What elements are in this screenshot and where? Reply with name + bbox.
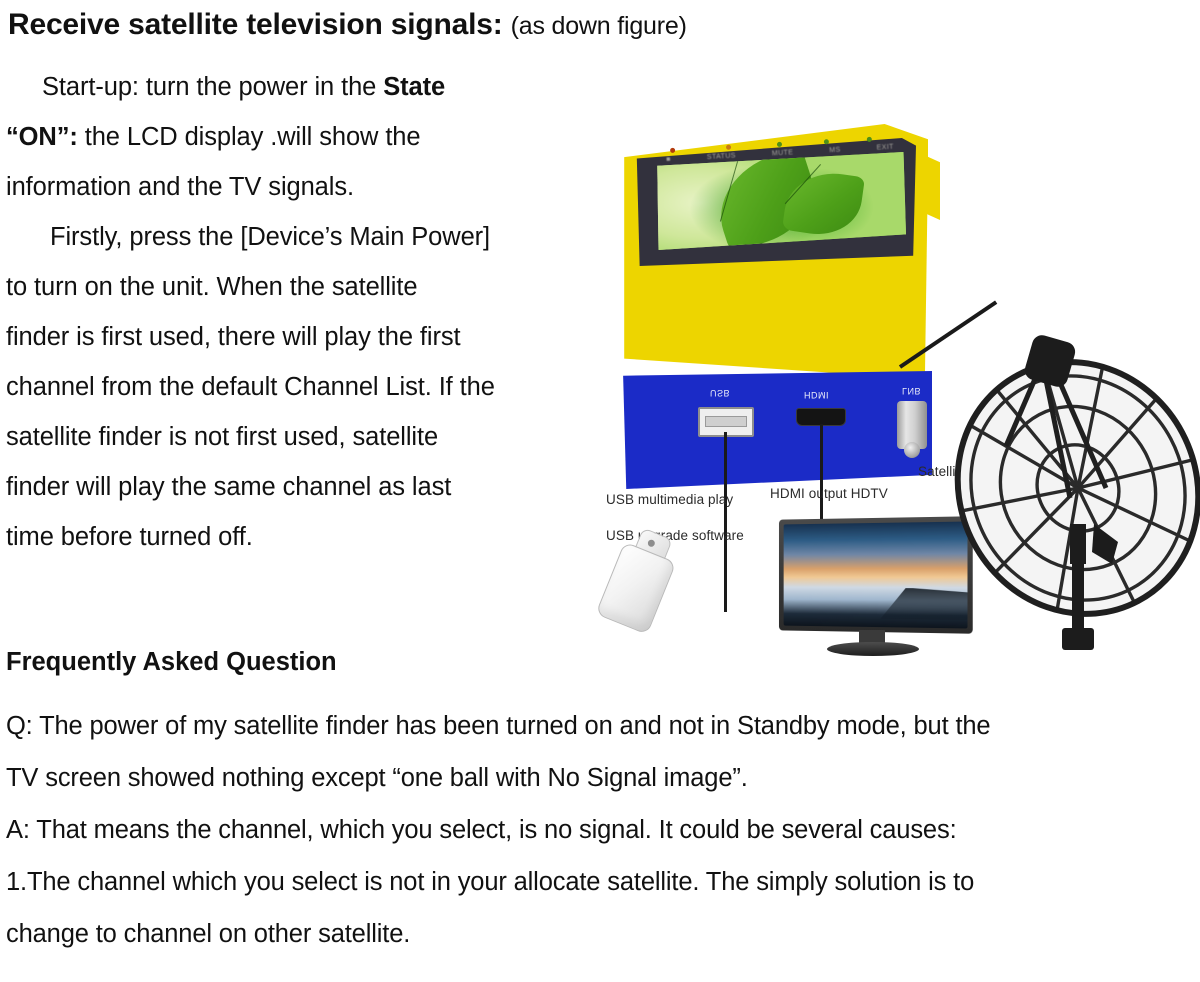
text-segment-bold: State [383, 73, 445, 101]
device-lower-panel [620, 371, 932, 489]
text-segment-bold: “ON”: [6, 123, 78, 151]
text-line: finder will play the same channel as las… [6, 462, 592, 512]
text-line: time before turned off. [6, 512, 592, 562]
usb-port-label: USB [710, 388, 730, 398]
bezel-label: MUTE [772, 149, 794, 157]
tv-stand-base [827, 642, 919, 656]
text-segment: Start-up: turn the power in the [42, 73, 383, 101]
faq-line-answer: A: That means the channel, which you sel… [6, 804, 1196, 856]
bezel-label: MS [829, 146, 841, 154]
satellite-dish [942, 328, 1200, 658]
tv-screen-image [784, 522, 968, 629]
text-segment: the LCD display .will show the [78, 123, 421, 151]
paragraph-startup: Start-up: turn the power in the State “O… [6, 62, 592, 212]
bezel-label: STATUS [707, 152, 736, 161]
text-line: channel from the default Channel List. I… [6, 362, 592, 412]
device-lcd-screen [656, 152, 906, 250]
text-line: to turn on the unit. When the satellite [6, 262, 592, 312]
faq-section-title: Frequently Asked Question [6, 648, 337, 677]
hdmi-output-caption: HDMI output HDTV [770, 486, 888, 501]
faq-line-question-2: TV screen showed nothing except “one bal… [6, 752, 1196, 804]
faq-line-cause-1-cont: change to channel on other satellite. [6, 908, 1196, 960]
text-line: Start-up: turn the power in the State [6, 62, 592, 112]
page-title-note: (as down figure) [511, 12, 687, 40]
text-line: finder is first used, there will play th… [6, 312, 592, 362]
usb-leader-line [724, 432, 727, 612]
bezel-label: ■ [666, 156, 671, 163]
lnb-port [897, 401, 927, 449]
faq-line-question-1: Q: The power of my satellite finder has … [6, 700, 1196, 752]
text-line: Firstly, press the [Device’s Main Power] [6, 212, 592, 262]
usb-multimedia-caption: USB multimedia play [606, 492, 733, 507]
body-text-column: Start-up: turn the power in the State “O… [6, 62, 592, 562]
dish-mount-base [1062, 628, 1094, 650]
text-line: information and the TV signals. [6, 162, 592, 212]
document-page: Receive satellite television signals: (a… [0, 0, 1200, 982]
paragraph-firstly: Firstly, press the [Device’s Main Power]… [6, 212, 592, 562]
satellite-finder-device: ■ STATUS MUTE MS EXIT USB HDMI LNB [618, 124, 958, 424]
page-title: Receive satellite television signals: (a… [8, 8, 928, 42]
text-line: satellite finder is not first used, sate… [6, 412, 592, 462]
faq-body: Q: The power of my satellite finder has … [6, 700, 1196, 960]
dish-mast [1072, 556, 1084, 640]
text-line: “ON”: the LCD display .will show the [6, 112, 592, 162]
bezel-label: EXIT [876, 143, 894, 151]
faq-line-cause-1: 1.The channel which you select is not in… [6, 856, 1196, 908]
page-title-main: Receive satellite television signals: [8, 8, 503, 41]
satellite-dish-drawing [942, 328, 1200, 658]
hdmi-port-label: HDMI [804, 390, 829, 400]
lnb-port-label: LNB [902, 386, 921, 396]
satellite-finder-figure: ■ STATUS MUTE MS EXIT USB HDMI LNB USB m… [570, 100, 1200, 670]
